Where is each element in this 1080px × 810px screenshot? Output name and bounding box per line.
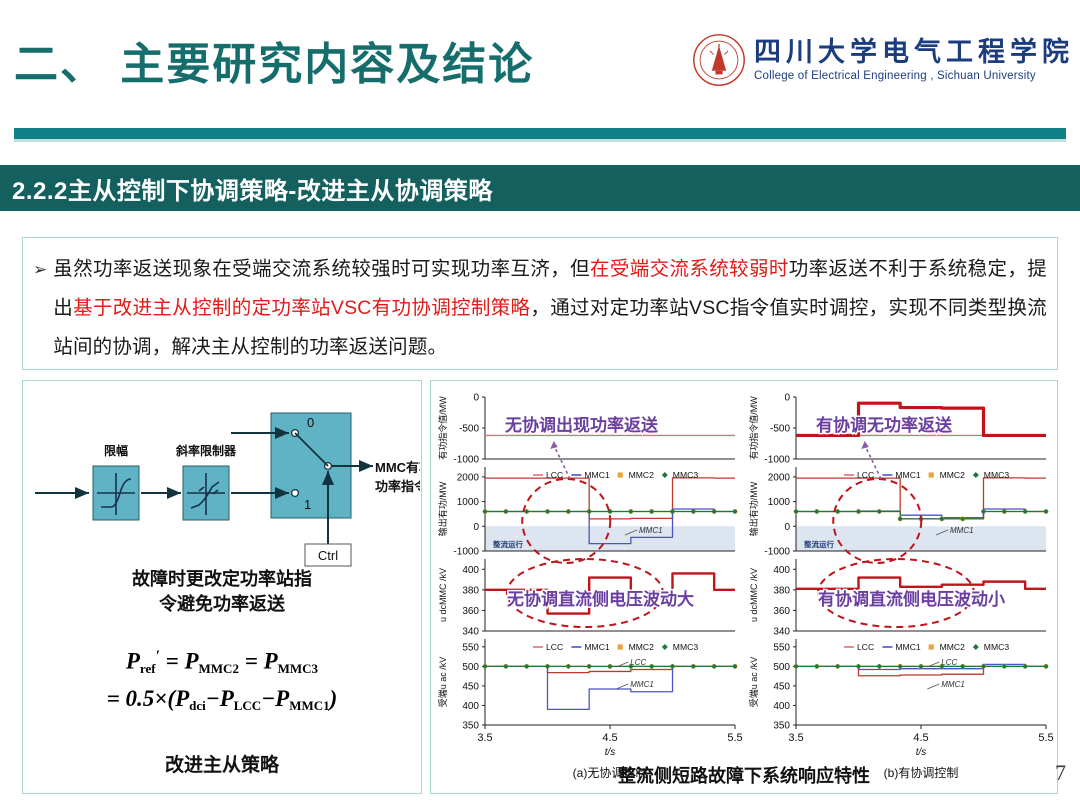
- y-tick-label: 340: [462, 627, 479, 638]
- legend-label-MMC3: MMC3: [673, 470, 699, 480]
- formula-p-mmc3-sub: MMC3: [278, 661, 318, 676]
- legend-label-MMC2: MMC2: [629, 470, 655, 480]
- formula-eq-2: =: [245, 649, 258, 674]
- formula-p-ref-sub: ref: [140, 661, 156, 676]
- inline-series-label-LCC: LCC: [941, 658, 957, 667]
- y-axis-label: 输出有功/MW: [437, 481, 448, 536]
- formula-p-lcc-sub: LCC: [234, 698, 261, 713]
- formula-prime: ′: [156, 648, 160, 664]
- legend-label-MMC3: MMC3: [984, 642, 1010, 652]
- y-tick-label: 500: [773, 662, 790, 673]
- y-axis-label: 输出有功/MW: [748, 481, 759, 536]
- y-tick-label: 2000: [768, 472, 791, 483]
- legend-label-LCC: LCC: [546, 642, 563, 652]
- x-tick-label: 4.5: [602, 732, 617, 744]
- y-tick-label: 0: [473, 522, 479, 533]
- body-text-box: ➢ 虽然功率返送现象在受端交流系统较强时可实现功率互济，但在受端交流系统较弱时功…: [22, 237, 1058, 370]
- series-line-MMC1: [485, 666, 735, 709]
- annotation-dc-voltage: 有协调直流侧电压波动小: [818, 589, 1005, 609]
- y-tick-label: -1000: [764, 547, 790, 558]
- output-label-line1: MMC有功: [375, 460, 420, 475]
- chart-no-coordination: 0-500-1000有功指令值/MW整流运行200010000-1000输出有功…: [433, 383, 744, 791]
- logo-english-name: College of Electrical Engineering , Sich…: [754, 70, 1074, 82]
- rectifier-band-label: 整流运行: [493, 539, 523, 549]
- legend-label-MMC2: MMC2: [940, 642, 966, 652]
- y-tick-label: 550: [462, 642, 479, 653]
- y-tick-label: 400: [773, 701, 790, 712]
- x-tick-label: 4.5: [913, 732, 928, 744]
- y-tick-label: 0: [784, 393, 790, 404]
- formula-p-mmc2: P: [184, 649, 198, 674]
- formula-minus-1: −: [206, 686, 220, 711]
- x-axis-label: t/s: [916, 747, 927, 758]
- university-logo: 四川大学电气工程学院 College of Electrical Enginee…: [692, 33, 1074, 87]
- paragraph-segment-4-highlight: 基于改进主从控制的定功率站VSC有功协调控制策略: [73, 297, 530, 319]
- y-tick-label: 2000: [457, 472, 480, 483]
- y-tick-label: 380: [773, 585, 790, 596]
- strategy-caption: 改进主从策略: [23, 753, 421, 778]
- annotation-power-return: 有协调无功率返送: [816, 415, 953, 435]
- rate-limiter-block-label: 斜率限制器: [175, 443, 237, 458]
- y-axis-label: 受端u ac /kV: [437, 657, 448, 708]
- y-axis-label: 受端u ac /kV: [748, 657, 759, 708]
- chart-with-coordination: 0-500-1000有功指令值/MW整流运行200010000-1000输出有功…: [744, 383, 1055, 791]
- y-tick-label: 0: [473, 393, 479, 404]
- legend-label-MMC2: MMC2: [629, 642, 655, 652]
- legend-label-MMC1: MMC1: [895, 470, 921, 480]
- x-tick-label: 5.5: [1038, 732, 1053, 744]
- x-tick-label: 5.5: [727, 732, 742, 744]
- inline-series-label-MMC1: MMC1: [941, 680, 965, 689]
- y-tick-label: 0: [784, 522, 790, 533]
- inline-series-label-MMC1: MMC1: [630, 680, 654, 689]
- formula-p-mmc1: P: [275, 686, 289, 711]
- inline-series-label-MMC1: MMC1: [950, 526, 974, 535]
- legend-label-LCC: LCC: [857, 642, 874, 652]
- control-block-diagram: 限幅 斜率限制器 0 1 Ctrl MMC有功 功率指令值: [23, 381, 420, 571]
- legend-label-MMC3: MMC3: [984, 470, 1010, 480]
- y-tick-label: 450: [462, 681, 479, 692]
- x-tick-label: 3.5: [788, 732, 803, 744]
- legend-label-MMC2: MMC2: [940, 470, 966, 480]
- y-tick-label: 400: [462, 565, 479, 576]
- logo-chinese-name: 四川大学电气工程学院: [754, 38, 1074, 66]
- y-tick-label: 400: [773, 565, 790, 576]
- formula-p-mmc2-sub: MMC2: [199, 661, 239, 676]
- rectifier-band-label: 整流运行: [804, 539, 834, 549]
- y-axis-label: 有功指令值/MW: [437, 396, 448, 460]
- paragraph-segment-2-highlight: 在受端交流系统较弱时: [590, 258, 789, 280]
- figure-caption: 整流侧短路故障下系统响应特性: [430, 762, 1058, 788]
- formula-eq-1: =: [166, 649, 179, 674]
- body-paragraph: 虽然功率返送现象在受端交流系统较强时可实现功率互济，但在受端交流系统较弱时功率返…: [53, 250, 1047, 367]
- formula-p-mmc1-sub: MMC1: [289, 698, 329, 713]
- university-seal-icon: [692, 33, 746, 87]
- diagram-caption-line2: 令避免功率返送: [23, 592, 421, 617]
- formula-minus-2: −: [261, 686, 275, 711]
- formula-p-dci: P: [175, 686, 189, 711]
- ctrl-block-label: Ctrl: [318, 548, 338, 563]
- series-line-LCC: [796, 478, 1046, 519]
- y-tick-label: -500: [770, 424, 790, 435]
- formula-p-dci-sub: dci: [189, 698, 206, 713]
- section-header-bar: 2.2.2主从控制下协调策略-改进主从协调策略: [0, 165, 1080, 211]
- y-tick-label: -500: [459, 424, 479, 435]
- y-tick-label: 360: [462, 606, 479, 617]
- inline-series-label-MMC1: MMC1: [639, 526, 663, 535]
- formula-line-2: = 0.5×(Pdci−PLCC−PMMC1): [23, 682, 421, 719]
- y-axis-label: u dcMMC /kV: [749, 568, 759, 622]
- page-number: 7: [1055, 760, 1066, 786]
- section-title: 2.2.2主从控制下协调策略-改进主从协调策略: [12, 171, 493, 206]
- legend-label-MMC1: MMC1: [584, 470, 610, 480]
- switch-port-0-label: 0: [307, 415, 314, 430]
- output-label-line2: 功率指令值: [375, 479, 420, 494]
- inline-series-label-LCC: LCC: [630, 658, 646, 667]
- x-tick-label: 3.5: [477, 732, 492, 744]
- y-tick-label: 500: [462, 662, 479, 673]
- switch-port-1-label: 1: [304, 497, 311, 512]
- series-line-udc: [796, 578, 1046, 589]
- y-axis-label: u dcMMC /kV: [438, 568, 448, 622]
- limiter-block-label: 限幅: [104, 443, 128, 458]
- y-axis-label: 有功指令值/MW: [748, 396, 759, 460]
- y-tick-label: -1000: [764, 455, 790, 466]
- y-tick-label: 400: [462, 701, 479, 712]
- y-tick-label: -1000: [453, 455, 479, 466]
- y-tick-label: -1000: [453, 547, 479, 558]
- page-title: 二、 主要研究内容及结论: [14, 28, 534, 92]
- formula-line-1: Pref′ = PMMC2 = PMMC3: [23, 639, 421, 682]
- formula-block: Pref′ = PMMC2 = PMMC3 = 0.5×(Pdci−PLCC−P…: [23, 639, 421, 719]
- formula-p-ref: P: [126, 649, 140, 674]
- legend-label-MMC1: MMC1: [584, 642, 610, 652]
- formula-p-lcc: P: [220, 686, 234, 711]
- y-tick-label: 360: [773, 606, 790, 617]
- y-tick-label: 340: [773, 627, 790, 638]
- y-tick-label: 450: [773, 681, 790, 692]
- legend-label-MMC1: MMC1: [895, 642, 921, 652]
- y-tick-label: 1000: [457, 497, 480, 508]
- y-tick-label: 350: [462, 721, 479, 732]
- formula-eq-3: = 0.5×(: [107, 686, 175, 711]
- diagram-caption-line1: 故障时更改定功率站指: [23, 567, 421, 592]
- annotation-dc-voltage: 无协调直流侧电压波动大: [506, 589, 694, 609]
- y-tick-label: 380: [462, 585, 479, 596]
- diagram-caption-top: 故障时更改定功率站指 令避免功率返送: [23, 567, 421, 617]
- formula-p-mmc3: P: [264, 649, 278, 674]
- bullet-arrow-icon: ➢: [33, 250, 47, 289]
- y-tick-label: 1000: [768, 497, 791, 508]
- right-chart-panel: 0-500-1000有功指令值/MW整流运行200010000-1000输出有功…: [430, 380, 1058, 794]
- annotation-power-return: 无协调出现功率返送: [504, 415, 659, 435]
- left-diagram-panel: 限幅 斜率限制器 0 1 Ctrl MMC有功 功率指令值 故障时更: [22, 380, 422, 794]
- legend-label-MMC3: MMC3: [673, 642, 699, 652]
- header-divider: [14, 128, 1066, 139]
- y-tick-label: 550: [773, 642, 790, 653]
- y-tick-label: 350: [773, 721, 790, 732]
- formula-paren-close: ): [330, 686, 338, 711]
- paragraph-segment-1: 虽然功率返送现象在受端交流系统较强时可实现功率互济，但: [53, 258, 590, 280]
- x-axis-label: t/s: [605, 747, 616, 758]
